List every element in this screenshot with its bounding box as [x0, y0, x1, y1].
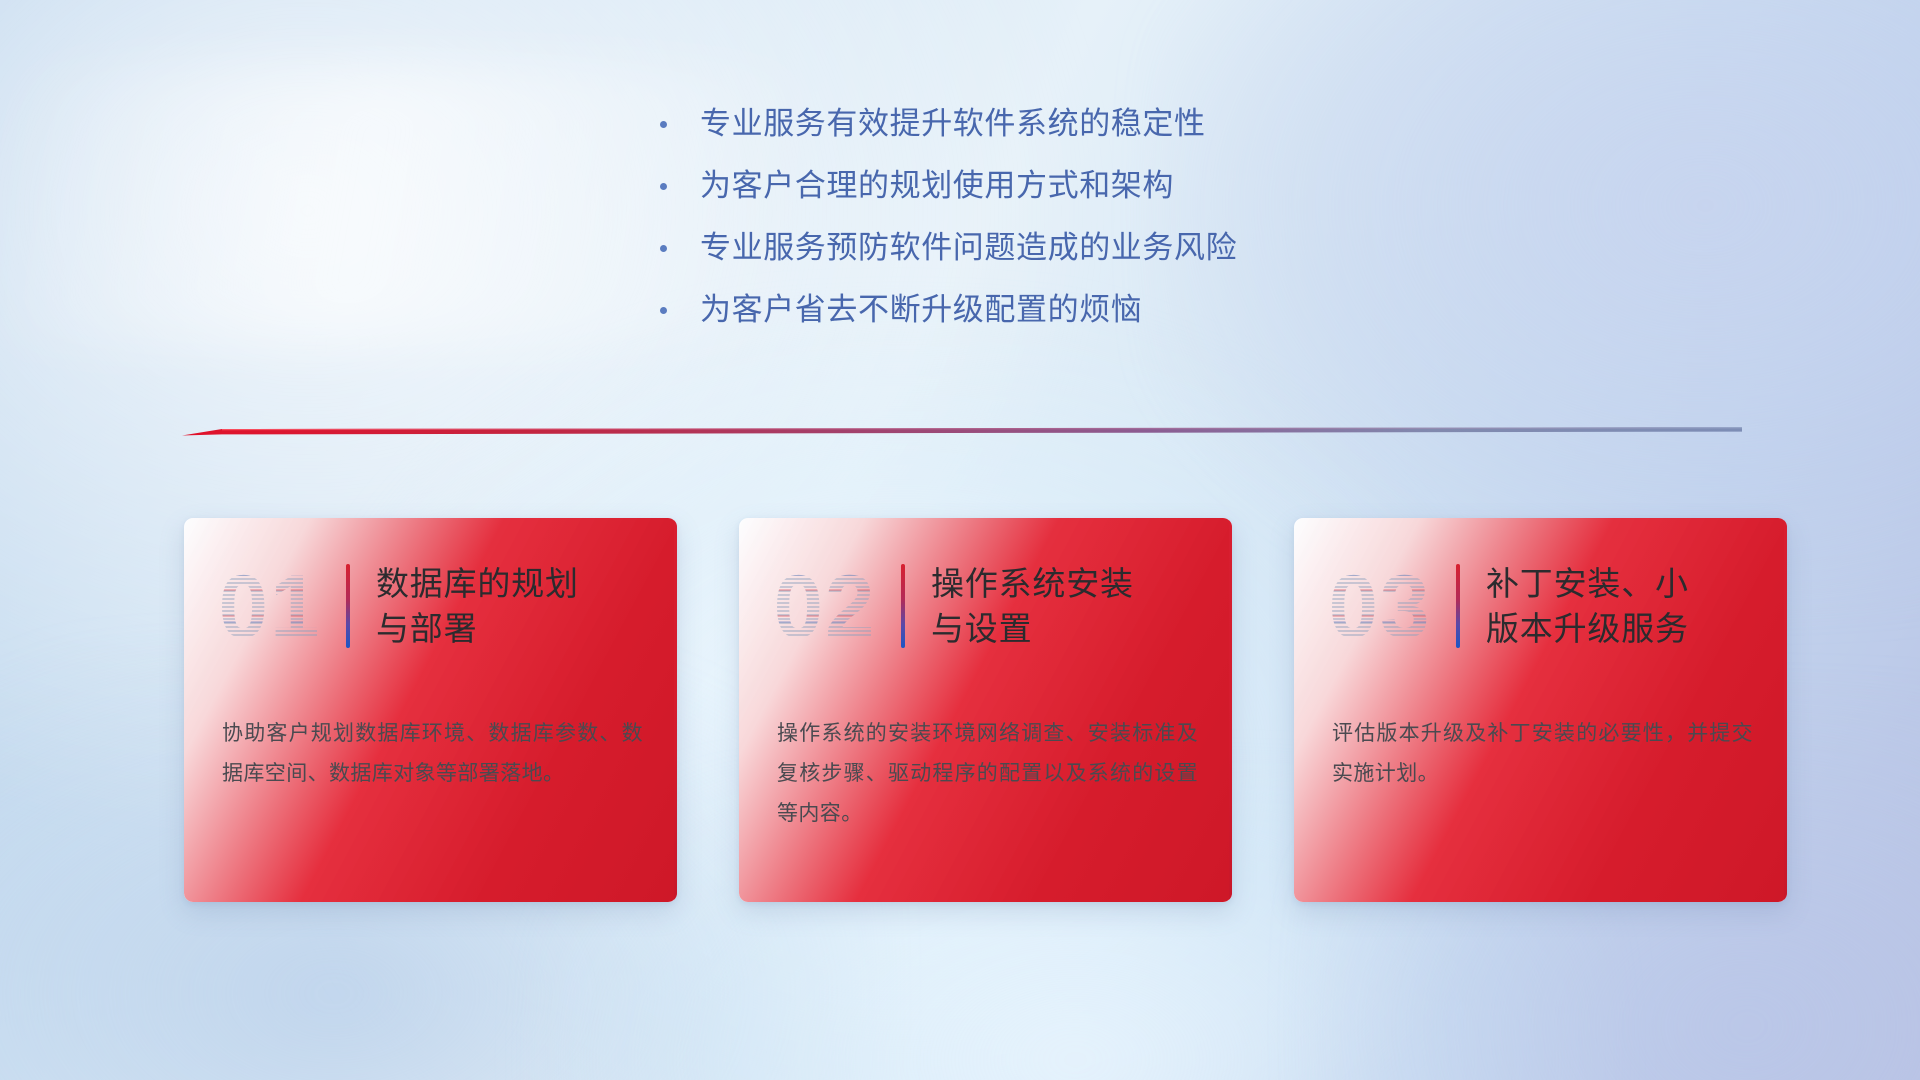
card-number-blue-stripes: 02 — [761, 554, 889, 658]
bullet-text: 为客户省去不断升级配置的烦恼 — [700, 290, 1142, 330]
card-header: 03 03 03 补丁安装、小 版本升级服务 — [1294, 536, 1787, 676]
list-item: 专业服务有效提升软件系统的稳定性 — [660, 104, 1237, 144]
service-card[interactable]: 03 03 03 补丁安装、小 版本升级服务 评估版本升级及补丁安装的必要性，并… — [1294, 518, 1787, 902]
card-title-accent-bar — [346, 564, 350, 648]
tapered-accent-divider — [182, 424, 1742, 440]
card-body-text: 评估版本升级及补丁安装的必要性，并提交实施计划。 — [1332, 714, 1753, 794]
list-item: 专业服务预防软件问题造成的业务风险 — [660, 228, 1237, 268]
card-header: 02 02 02 操作系统安装 与设置 — [739, 536, 1232, 676]
card-title: 数据库的规划 与部署 — [376, 561, 579, 651]
card-title-line-2: 与设置 — [931, 606, 1134, 651]
service-card-row: 01 01 01 数据库的规划 与部署 协助客户规划数据库环境、数据库参数、数据… — [184, 518, 1787, 902]
list-item: 为客户省去不断升级配置的烦恼 — [660, 290, 1237, 330]
divider-shape-icon — [182, 424, 1742, 440]
card-title-line-1: 补丁安装、小 — [1486, 561, 1689, 606]
list-item: 为客户合理的规划使用方式和架构 — [660, 166, 1237, 206]
card-title-line-1: 数据库的规划 — [376, 561, 579, 606]
bullet-dot-icon — [660, 121, 667, 128]
bullet-dot-icon — [660, 183, 667, 190]
card-number-watermark: 01 01 01 — [206, 554, 334, 658]
bullet-text: 专业服务有效提升软件系统的稳定性 — [700, 104, 1206, 144]
card-number-blue-stripes: 01 — [206, 554, 334, 658]
bullet-text: 为客户合理的规划使用方式和架构 — [700, 166, 1174, 206]
card-number-watermark: 03 03 03 — [1316, 554, 1444, 658]
service-card[interactable]: 02 02 02 操作系统安装 与设置 操作系统的安装环境网络调查、安装标准及复… — [739, 518, 1232, 902]
card-body-text: 操作系统的安装环境网络调查、安装标准及复核步骤、驱动程序的配置以及系统的设置等内… — [777, 714, 1198, 834]
bullet-dot-icon — [660, 307, 667, 314]
card-body-text: 协助客户规划数据库环境、数据库参数、数据库空间、数据库对象等部署落地。 — [222, 714, 643, 794]
card-number-watermark: 02 02 02 — [761, 554, 889, 658]
card-number-blue-stripes: 03 — [1316, 554, 1444, 658]
benefits-bullet-list: 专业服务有效提升软件系统的稳定性 为客户合理的规划使用方式和架构 专业服务预防软… — [660, 104, 1237, 330]
service-card[interactable]: 01 01 01 数据库的规划 与部署 协助客户规划数据库环境、数据库参数、数据… — [184, 518, 677, 902]
card-title-line-2: 版本升级服务 — [1486, 606, 1689, 651]
card-title-line-1: 操作系统安装 — [931, 561, 1134, 606]
bullet-dot-icon — [660, 245, 667, 252]
card-header: 01 01 01 数据库的规划 与部署 — [184, 536, 677, 676]
card-title-line-2: 与部署 — [376, 606, 579, 651]
bullet-text: 专业服务预防软件问题造成的业务风险 — [700, 228, 1237, 268]
card-title-accent-bar — [1456, 564, 1460, 648]
card-title-accent-bar — [901, 564, 905, 648]
card-title: 操作系统安装 与设置 — [931, 561, 1134, 651]
card-title: 补丁安装、小 版本升级服务 — [1486, 561, 1689, 651]
